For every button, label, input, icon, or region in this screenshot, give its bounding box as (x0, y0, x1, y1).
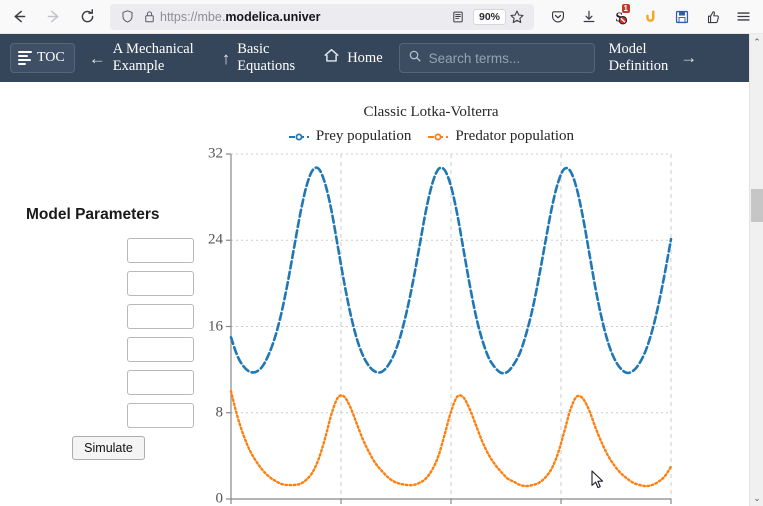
parameter-row-beta (22, 271, 194, 296)
parameter-input-beta[interactable] (127, 271, 194, 296)
nav-next-link[interactable]: Model Definition (609, 41, 669, 75)
parameter-rows (22, 238, 194, 428)
toc-button[interactable]: TOC (10, 43, 75, 73)
parameter-row-delta (22, 304, 194, 329)
parameter-input-delta[interactable] (127, 304, 194, 329)
hook-extension-icon[interactable] (635, 2, 666, 32)
y-tick-label: 0 (216, 491, 224, 506)
parameter-row-gamma (22, 337, 194, 362)
y-tick-label: 24 (208, 232, 223, 249)
app-menu-icon[interactable] (728, 2, 759, 32)
search-placeholder: Search terms... (429, 51, 521, 66)
nav-prev-link[interactable]: ← A Mechanical Example (89, 41, 194, 75)
reload-icon[interactable] (72, 2, 102, 32)
parameter-input-gamma[interactable] (127, 337, 194, 362)
thumbs-up-extension-icon[interactable] (697, 2, 728, 32)
scroll-down-arrow[interactable]: ⌄ (750, 490, 763, 506)
search-icon (408, 49, 422, 68)
search-input[interactable]: Search terms... (399, 43, 595, 73)
home-icon (323, 47, 340, 69)
simulate-button[interactable]: Simulate (72, 436, 145, 460)
nav-up-link[interactable]: ↑ Basic Equations (222, 41, 296, 75)
parameter-input-alpha[interactable] (127, 238, 194, 263)
site-navigation-bar: TOC ← A Mechanical Example ↑ Basic Equat… (0, 34, 749, 82)
back-arrow-icon[interactable] (4, 2, 34, 32)
scrollbar-thumb[interactable] (751, 189, 763, 222)
nav-home-link[interactable]: Home (323, 47, 382, 69)
y-tick-label: 32 (208, 146, 223, 163)
y-tick-label: 8 (216, 404, 224, 421)
save-page-icon[interactable] (666, 2, 697, 32)
toc-label: TOC (37, 50, 65, 66)
nav-next-label: Model Definition (609, 41, 669, 75)
adblock-extension-icon[interactable]: S 1 (604, 2, 635, 32)
page-content: Classic Lotka-Volterra Prey population P… (0, 34, 749, 506)
browser-extension-icons: S 1 (542, 2, 763, 32)
address-bar[interactable]: https://mbe.modelica.univer 90% (110, 4, 534, 30)
browser-toolbar: https://mbe.modelica.univer 90% S (0, 0, 763, 34)
toc-lines-icon (18, 49, 32, 67)
parameter-row-y0 (22, 403, 194, 428)
forward-arrow-icon[interactable]: → (680, 48, 697, 68)
parameter-row-x0 (22, 370, 194, 395)
mouse-cursor (591, 470, 605, 490)
scroll-up-arrow[interactable]: ⌃ (750, 34, 763, 50)
chart-plot-area (196, 72, 696, 506)
extension-badge-count: 1 (622, 4, 630, 13)
page-scrollbar[interactable]: ⌃ ⌄ (749, 34, 763, 506)
browser-window: https://mbe.modelica.univer 90% S (0, 0, 763, 506)
nav-prev-label: A Mechanical Example (113, 41, 194, 75)
nav-home-label: Home (347, 50, 382, 67)
back-arrow-icon: ← (89, 50, 106, 67)
reader-view-icon[interactable] (447, 10, 469, 24)
simulation-chart: Classic Lotka-Volterra Prey population P… (196, 72, 696, 506)
parameters-heading: Model Parameters (26, 206, 194, 224)
parameter-input-y0[interactable] (127, 403, 194, 428)
y-tick-label: 16 (208, 318, 223, 335)
forward-arrow-icon[interactable] (38, 2, 68, 32)
chart-series-prey (231, 168, 671, 374)
lock-icon[interactable] (138, 9, 160, 24)
url-text[interactable]: https://mbe.modelica.univer (160, 10, 447, 24)
zoom-level-indicator[interactable]: 90% (473, 9, 506, 25)
parameter-input-x0[interactable] (127, 370, 194, 395)
parameter-row-alpha (22, 238, 194, 263)
nav-up-label: Basic Equations (237, 41, 295, 75)
nav-next-group: Model Definition → (609, 41, 698, 75)
shield-icon[interactable] (116, 9, 138, 24)
model-parameters-panel: Model Parameters Simulate (22, 206, 194, 460)
pocket-icon[interactable] (542, 2, 573, 32)
up-arrow-icon: ↑ (222, 50, 231, 67)
downloads-icon[interactable] (573, 2, 604, 32)
star-icon[interactable] (506, 9, 528, 25)
